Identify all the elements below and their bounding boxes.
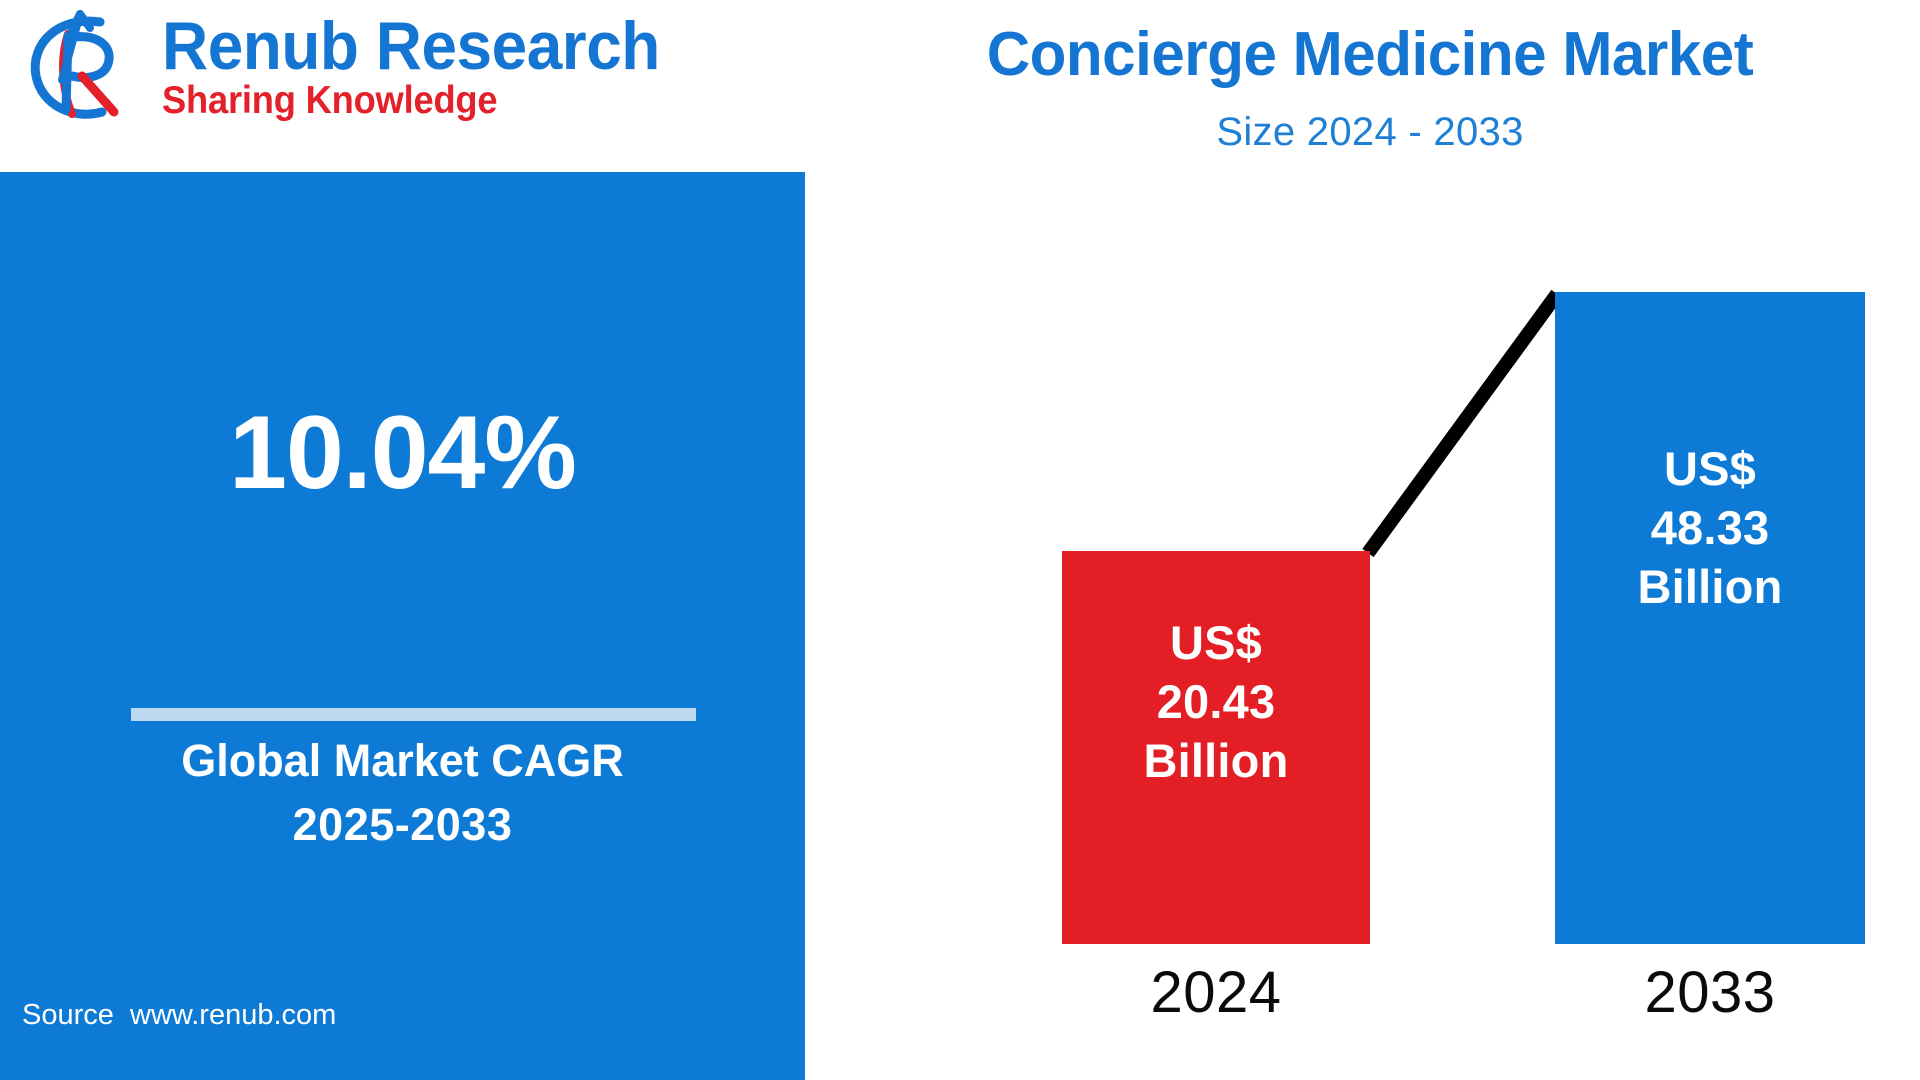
page-title: Concierge Medicine Market bbox=[856, 18, 1884, 92]
chart-header: Concierge Medicine Market Size 2024 - 20… bbox=[840, 18, 1900, 158]
cagr-divider bbox=[131, 708, 696, 721]
source-note: Source www.renub.com bbox=[22, 998, 336, 1032]
page-subtitle: Size 2024 - 2033 bbox=[840, 106, 1900, 158]
cagr-value: 10.04% bbox=[0, 397, 805, 509]
cagr-panel: 10.04% Global Market CAGR 2025-2033 Sour… bbox=[0, 172, 805, 1080]
brand-logo: Renub Research Sharing Knowledge bbox=[22, 4, 662, 130]
x-axis-tick-2024: 2024 bbox=[1062, 958, 1370, 1028]
cagr-period: 2025-2033 bbox=[0, 792, 805, 858]
cagr-caption: Global Market CAGR bbox=[0, 728, 805, 794]
bar-value-label-2024: US$ 20.43 Billion bbox=[1144, 613, 1289, 790]
renub-circular-r-logo-icon bbox=[22, 6, 152, 126]
bar-value-label-2033: US$ 48.33 Billion bbox=[1638, 439, 1783, 616]
bar-2024: US$ 20.43 Billion bbox=[1062, 551, 1370, 944]
brand-tagline: Sharing Knowledge bbox=[162, 80, 608, 122]
x-axis-tick-2033: 2033 bbox=[1555, 958, 1865, 1028]
brand-wordmark: Renub Research Sharing Knowledge bbox=[162, 10, 642, 122]
bar-2033: US$ 48.33 Billion bbox=[1555, 292, 1865, 944]
brand-name: Renub Research bbox=[162, 10, 613, 82]
